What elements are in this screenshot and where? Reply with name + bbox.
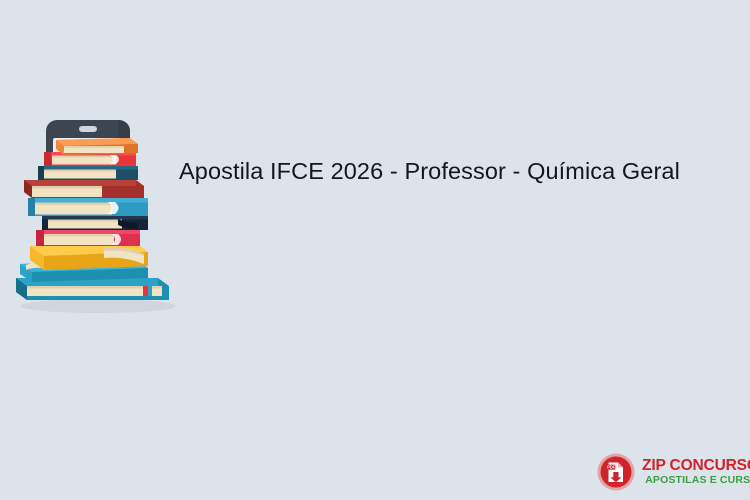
pdf-download-circle-icon: PDF: [597, 453, 635, 491]
book-navy: [38, 166, 138, 180]
product-banner: Apostila IFCE 2026 - Professor - Química…: [0, 0, 750, 500]
book-navy-dark: [42, 216, 148, 230]
brand-name-primary: ZIP CONCURSOS: [642, 457, 750, 474]
book-yellow: [30, 242, 148, 270]
book-darkred: [24, 180, 144, 198]
svg-text:PDF: PDF: [607, 465, 616, 470]
stack-of-books-with-tablet-icon: [8, 118, 183, 318]
product-title: Apostila IFCE 2026 - Professor - Química…: [179, 156, 719, 186]
book-blue-large: [28, 198, 148, 216]
brand-logo-text: ZIP CONCURSOS APOSTILAS E CURSOS: [642, 457, 750, 487]
brand-logo[interactable]: PDF ZIP CONCURSOS APOSTILAS E CURSOS: [597, 452, 743, 492]
brand-name-secondary: APOSTILAS E CURSOS: [642, 474, 750, 487]
book-crimson: [36, 230, 140, 246]
book-orange-top: [56, 138, 138, 155]
